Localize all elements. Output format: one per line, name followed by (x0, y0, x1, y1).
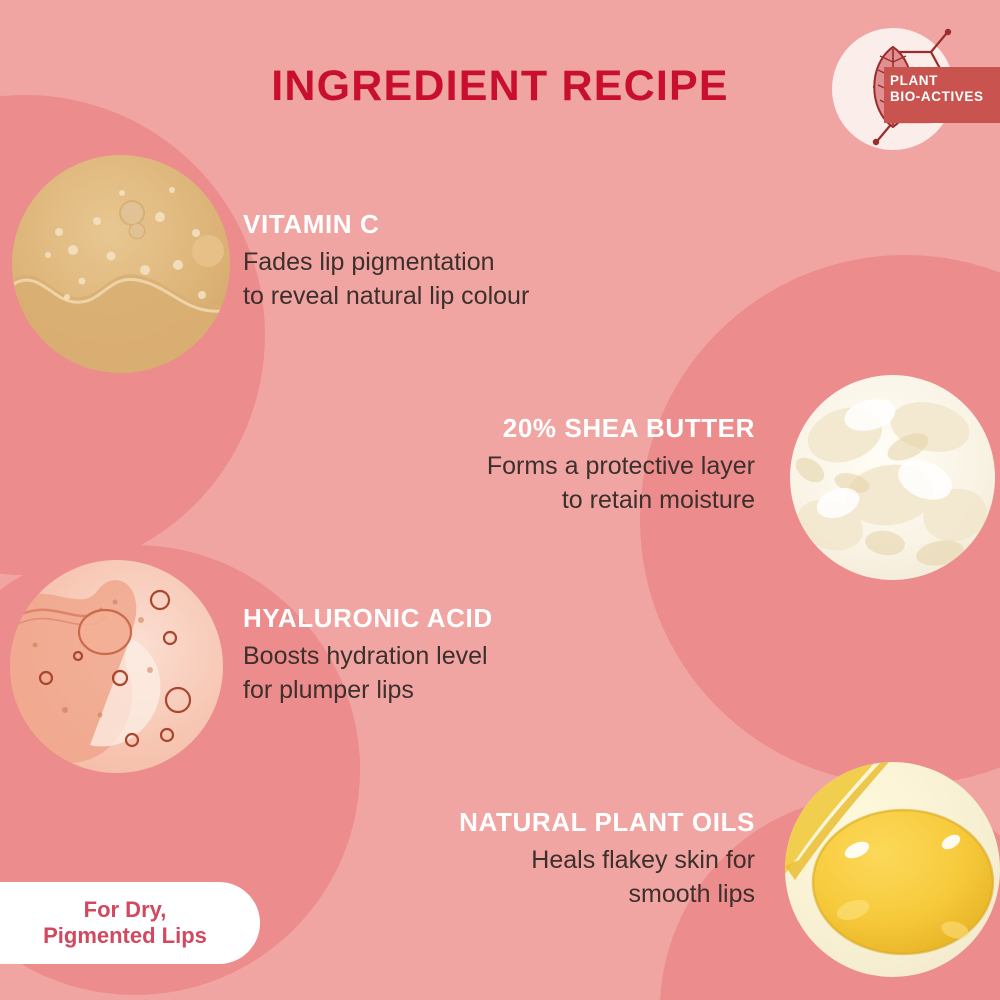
ingredient-name: NATURAL PLANT OILS (330, 806, 755, 838)
ingredient-name: VITAMIN C (243, 208, 673, 240)
ingredient-recipe-poster: INGREDIENT RECIPE PLANT BIO-ACTIVES (0, 0, 1000, 1000)
ingredient-description: Boosts hydration level for plumper lips (243, 639, 673, 707)
for-dry-pigmented-lips-pill: For Dry, Pigmented Lips (0, 882, 260, 964)
badge-label: PLANT BIO-ACTIVES (890, 73, 1000, 105)
ingredient-name: 20% SHEA BUTTER (330, 412, 755, 444)
ingredient-block-hyaluronic-acid: HYALURONIC ACID Boosts hydration level f… (243, 602, 673, 707)
ingredient-name: HYALURONIC ACID (243, 602, 673, 634)
ingredient-block-vitamin-c: VITAMIN C Fades lip pigmentation to reve… (243, 208, 673, 313)
ingredient-image-plant-oils (785, 762, 1000, 977)
plant-bio-actives-badge: PLANT BIO-ACTIVES (824, 22, 1000, 152)
pill-label: For Dry, Pigmented Lips (43, 897, 207, 949)
ingredient-block-plant-oils: NATURAL PLANT OILS Heals flakey skin for… (330, 806, 755, 911)
ingredient-image-hyaluronic-acid (10, 560, 223, 773)
ingredient-description: Heals flakey skin for smooth lips (330, 843, 755, 911)
ingredient-description: Forms a protective layer to retain moist… (330, 449, 755, 517)
ingredient-block-shea-butter: 20% SHEA BUTTER Forms a protective layer… (330, 412, 755, 517)
ingredient-image-vitamin-c (12, 155, 230, 373)
ingredient-image-shea-butter (790, 375, 995, 580)
ingredient-description: Fades lip pigmentation to reveal natural… (243, 245, 673, 313)
